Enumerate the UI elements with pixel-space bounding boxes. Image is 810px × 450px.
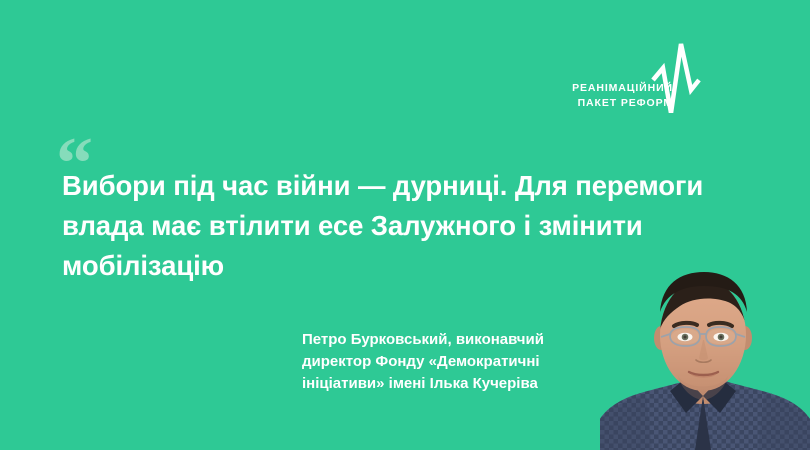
rpr-logo-text: РЕАНІМАЦІЙНИЙ ПАКЕТ РЕФОРМ [545, 81, 673, 111]
quote-line: Вибори під час війни — дурниці. Для пере… [62, 166, 752, 206]
speaker-portrait [600, 250, 810, 450]
quote-line: влада має втілити есе Залужного і змінит… [62, 206, 752, 246]
attribution-line: Петро Бурковський, виконавчий [302, 329, 602, 351]
rpr-logo-line2: ПАКЕТ РЕФОРМ [545, 96, 673, 111]
quote-attribution: Петро Бурковський, виконавчий директор Ф… [302, 329, 602, 395]
portrait-illustration [600, 250, 810, 450]
attribution-line: ініціативи» імені Ілька Кучеріва [302, 373, 602, 395]
attribution-line: директор Фонду «Демократичні [302, 351, 602, 373]
rpr-logo-line1: РЕАНІМАЦІЙНИЙ [545, 81, 673, 96]
rpr-logo[interactable]: РЕАНІМАЦІЙНИЙ ПАКЕТ РЕФОРМ [545, 38, 755, 113]
quote-card: РЕАНІМАЦІЙНИЙ ПАКЕТ РЕФОРМ “ Вибори під … [0, 0, 810, 450]
